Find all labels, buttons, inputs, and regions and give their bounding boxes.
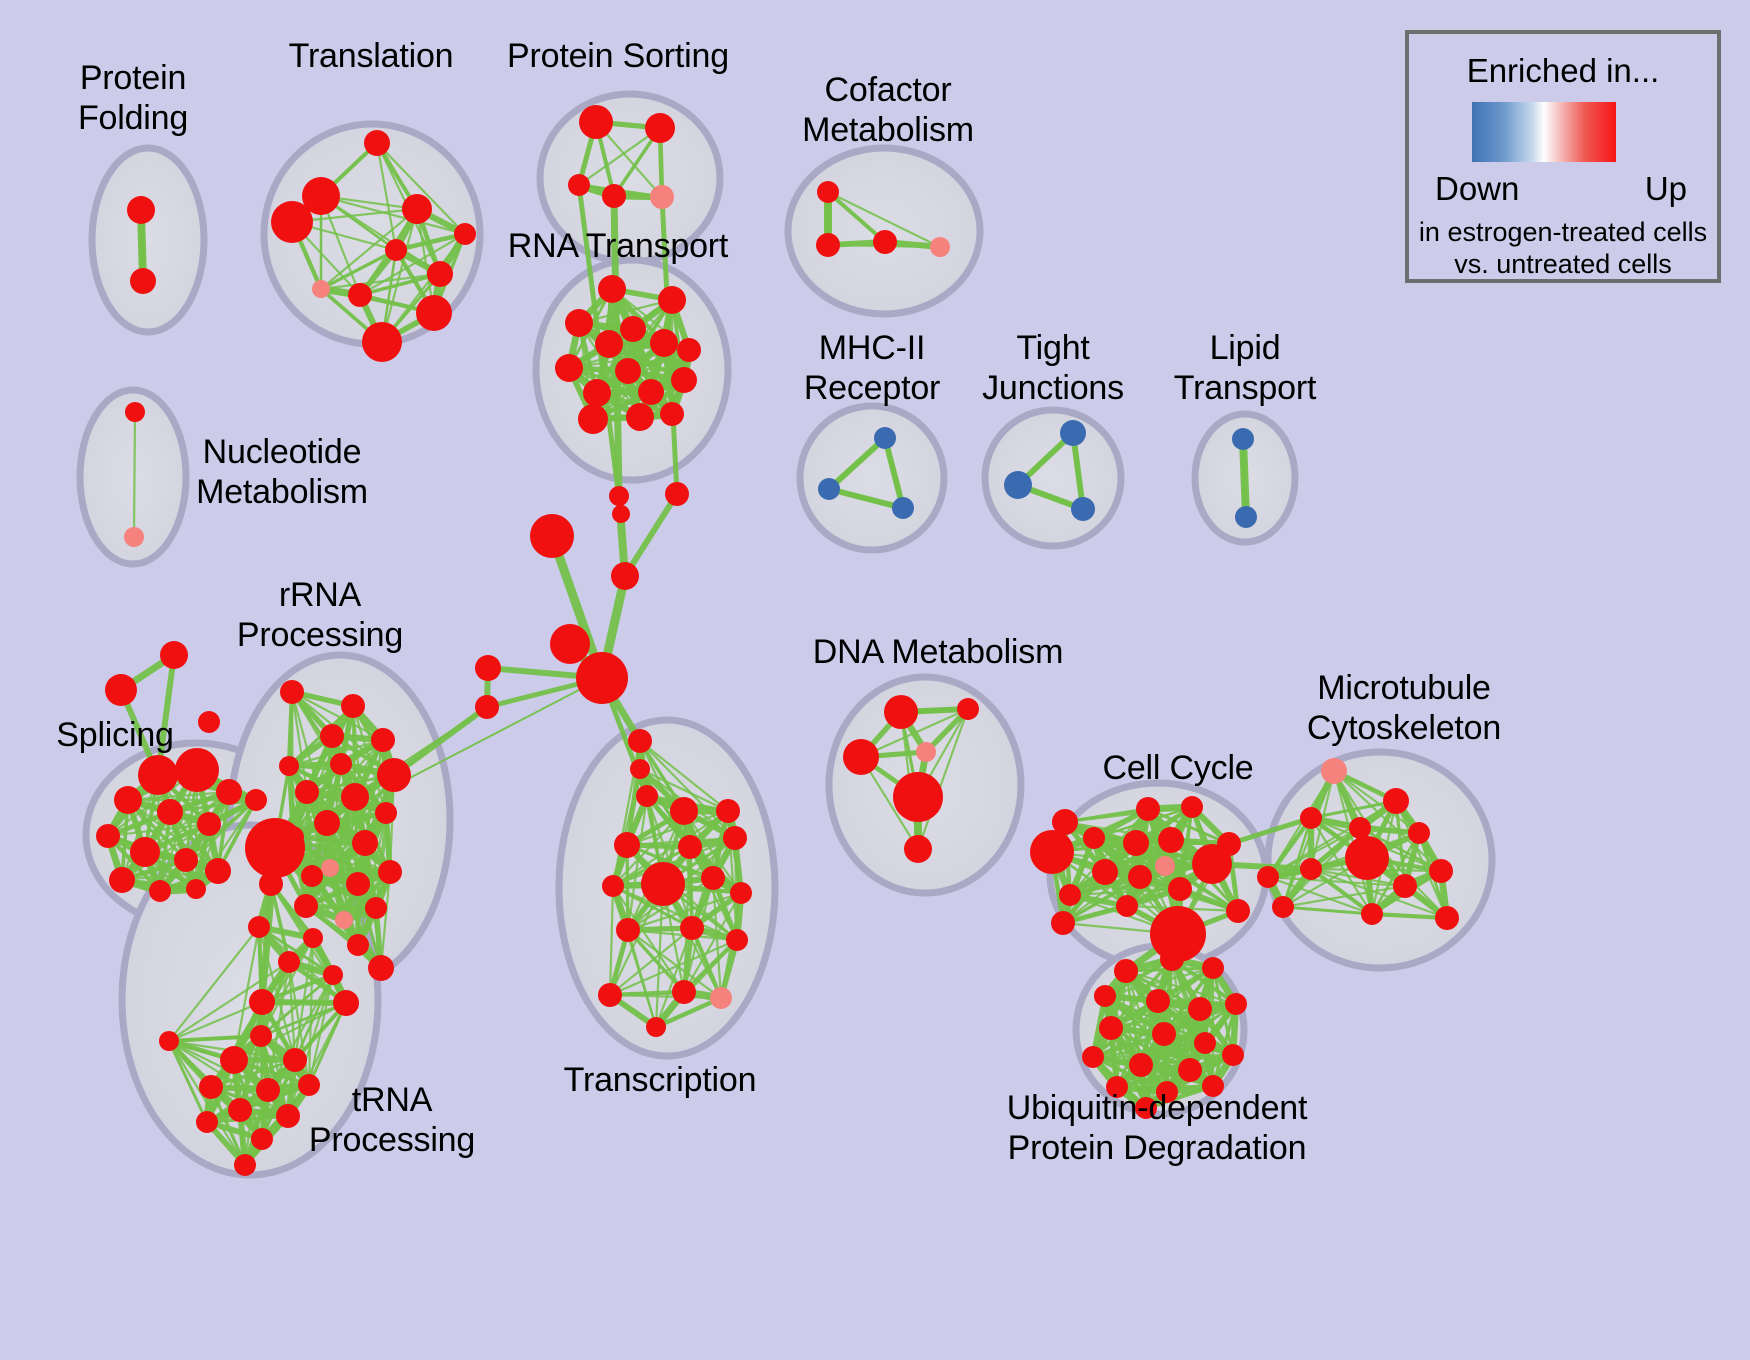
node[interactable] (157, 799, 183, 825)
node[interactable] (1128, 865, 1152, 889)
node[interactable] (109, 867, 135, 893)
cluster-label-splicing: Splicing (56, 715, 173, 755)
node[interactable] (199, 1075, 223, 1099)
node[interactable] (368, 955, 394, 981)
node[interactable] (160, 641, 188, 669)
node[interactable] (1435, 906, 1459, 930)
node[interactable] (256, 1078, 280, 1102)
node[interactable] (1099, 1016, 1123, 1040)
node[interactable] (278, 951, 300, 973)
node[interactable] (598, 275, 626, 303)
cluster-label-cell-cycle: Cell Cycle (1102, 748, 1253, 788)
node[interactable] (1272, 896, 1294, 918)
node[interactable] (220, 1046, 248, 1074)
node[interactable] (1004, 471, 1032, 499)
node[interactable] (378, 860, 402, 884)
legend-title: Enriched in... (1409, 52, 1717, 90)
node[interactable] (916, 742, 936, 762)
node[interactable] (646, 1017, 666, 1037)
node[interactable] (1181, 796, 1203, 818)
node[interactable] (1194, 1032, 1216, 1054)
node[interactable] (196, 1111, 218, 1133)
node[interactable] (105, 674, 137, 706)
node[interactable] (583, 379, 611, 407)
node[interactable] (1300, 807, 1322, 829)
node[interactable] (1158, 827, 1184, 853)
node[interactable] (130, 837, 160, 867)
legend-up-label: Up (1645, 170, 1687, 208)
node[interactable] (614, 832, 640, 858)
node[interactable] (1092, 859, 1118, 885)
edge (1243, 439, 1246, 517)
node[interactable] (228, 1098, 252, 1122)
node[interactable] (672, 980, 696, 1004)
node[interactable] (665, 482, 689, 506)
node[interactable] (234, 1154, 256, 1176)
node[interactable] (1114, 959, 1138, 983)
node[interactable] (186, 879, 206, 899)
node[interactable] (1300, 858, 1322, 880)
node[interactable] (670, 797, 698, 825)
node[interactable] (1429, 859, 1453, 883)
node[interactable] (530, 514, 574, 558)
edge (134, 412, 135, 537)
node[interactable] (295, 780, 319, 804)
node[interactable] (1129, 1053, 1153, 1077)
node[interactable] (321, 859, 339, 877)
node[interactable] (216, 779, 242, 805)
node[interactable] (1116, 895, 1138, 917)
cluster-label-dna-metabolism: DNA Metabolism (813, 632, 1063, 672)
node[interactable] (365, 897, 387, 919)
cluster-label-mhc-ii-receptor: MHC-II Receptor (804, 328, 940, 408)
node[interactable] (1155, 856, 1175, 876)
node[interactable] (818, 478, 840, 500)
node[interactable] (701, 866, 725, 890)
node[interactable] (1349, 817, 1371, 839)
node[interactable] (638, 379, 664, 405)
node[interactable] (341, 783, 369, 811)
cluster-hull-protein-folding (92, 148, 204, 332)
node[interactable] (352, 830, 378, 856)
node[interactable] (1188, 997, 1212, 1021)
node[interactable] (611, 562, 639, 590)
node[interactable] (645, 113, 675, 143)
node[interactable] (249, 989, 275, 1015)
cluster-label-transcription: Transcription (564, 1060, 757, 1100)
node[interactable] (710, 987, 732, 1009)
node[interactable] (301, 865, 323, 887)
node[interactable] (602, 184, 626, 208)
node[interactable] (248, 916, 270, 938)
node[interactable] (259, 872, 283, 896)
node[interactable] (595, 330, 623, 358)
node[interactable] (578, 404, 608, 434)
cluster-label-microtubule-cytoskeleton: Microtubule Cytoskeleton (1307, 668, 1501, 748)
node[interactable] (130, 268, 156, 294)
cluster-hull-mhc-ii-receptor (800, 406, 944, 550)
node[interactable] (904, 835, 932, 863)
node[interactable] (636, 785, 658, 807)
node[interactable] (726, 929, 748, 951)
node[interactable] (568, 174, 590, 196)
node[interactable] (555, 354, 583, 382)
node[interactable] (346, 872, 370, 896)
node[interactable] (294, 894, 318, 918)
node[interactable] (1345, 836, 1389, 880)
node[interactable] (1321, 758, 1347, 784)
node[interactable] (1071, 497, 1095, 521)
node[interactable] (1192, 844, 1232, 884)
node[interactable] (427, 261, 453, 287)
node[interactable] (576, 652, 628, 704)
node[interactable] (312, 280, 330, 298)
node[interactable] (723, 826, 747, 850)
node[interactable] (1232, 428, 1254, 450)
edge (625, 494, 677, 576)
node[interactable] (283, 1048, 307, 1072)
node[interactable] (626, 403, 654, 431)
node[interactable] (716, 799, 740, 823)
node[interactable] (598, 983, 622, 1007)
node[interactable] (1222, 1044, 1244, 1066)
node[interactable] (1383, 788, 1409, 814)
node[interactable] (251, 1128, 273, 1150)
node[interactable] (341, 694, 365, 718)
node[interactable] (658, 286, 686, 314)
node[interactable] (678, 835, 702, 859)
node[interactable] (385, 239, 407, 261)
node[interactable] (1257, 866, 1279, 888)
node[interactable] (620, 316, 646, 342)
node[interactable] (677, 338, 701, 362)
node[interactable] (1136, 797, 1160, 821)
node[interactable] (124, 527, 144, 547)
node[interactable] (197, 812, 221, 836)
cluster-hull-tight-junctions (985, 410, 1121, 546)
node[interactable] (454, 223, 476, 245)
node[interactable] (1178, 1058, 1202, 1082)
cluster-label-protein-folding: Protein Folding (78, 58, 188, 138)
cluster-label-nucleotide-metabolism: Nucleotide Metabolism (196, 432, 368, 512)
node[interactable] (1094, 985, 1116, 1007)
node[interactable] (371, 728, 395, 752)
node[interactable] (957, 698, 979, 720)
legend-panel: Enriched in... Down Up in estrogen-treat… (1405, 30, 1721, 283)
node[interactable] (628, 729, 652, 753)
node[interactable] (1168, 877, 1192, 901)
node[interactable] (314, 810, 340, 836)
node[interactable] (817, 181, 839, 203)
node[interactable] (873, 230, 897, 254)
node[interactable] (680, 916, 704, 940)
node[interactable] (375, 802, 397, 824)
legend-down-label: Down (1435, 170, 1519, 208)
node[interactable] (1225, 993, 1247, 1015)
node[interactable] (276, 1104, 300, 1128)
node[interactable] (874, 427, 896, 449)
cluster-label-tight-junctions: Tight Junctions (982, 328, 1124, 408)
node[interactable] (641, 862, 685, 906)
cluster-label-rrna-processing: rRNA Processing (237, 575, 403, 655)
node[interactable] (377, 758, 411, 792)
node[interactable] (320, 724, 344, 748)
node[interactable] (612, 505, 630, 523)
node[interactable] (205, 858, 231, 884)
node[interactable] (335, 911, 353, 929)
node[interactable] (114, 786, 142, 814)
node[interactable] (816, 233, 840, 257)
node[interactable] (174, 848, 198, 872)
node[interactable] (1060, 420, 1086, 446)
legend-colorbar (1472, 102, 1616, 162)
node[interactable] (892, 497, 914, 519)
cluster-label-ubiquitin-degradation: Ubiquitin-dependent Protein Degradation (1007, 1088, 1308, 1168)
cluster-label-lipid-transport: Lipid Transport (1174, 328, 1316, 408)
node[interactable] (650, 185, 674, 209)
cluster-label-translation: Translation (289, 36, 454, 76)
node[interactable] (159, 1031, 179, 1051)
node[interactable] (1146, 989, 1170, 1013)
node[interactable] (1393, 874, 1417, 898)
node[interactable] (271, 201, 313, 243)
node[interactable] (1059, 884, 1081, 906)
node[interactable] (149, 880, 171, 902)
node[interactable] (364, 130, 390, 156)
node[interactable] (565, 309, 593, 337)
node[interactable] (348, 283, 372, 307)
node[interactable] (250, 1025, 272, 1047)
node[interactable] (198, 711, 220, 733)
node[interactable] (609, 486, 629, 506)
cluster-label-cofactor-metabolism: Cofactor Metabolism (802, 70, 974, 150)
node[interactable] (362, 322, 402, 362)
node[interactable] (1123, 830, 1149, 856)
node[interactable] (843, 739, 879, 775)
node[interactable] (96, 824, 120, 848)
node[interactable] (660, 402, 684, 426)
node[interactable] (650, 329, 678, 357)
node[interactable] (602, 875, 624, 897)
node[interactable] (1361, 903, 1383, 925)
node[interactable] (1408, 822, 1430, 844)
node[interactable] (1030, 830, 1074, 874)
node[interactable] (893, 772, 943, 822)
cluster-label-protein-sorting: Protein Sorting (507, 36, 729, 76)
node[interactable] (1226, 899, 1250, 923)
node[interactable] (475, 695, 499, 719)
node[interactable] (884, 695, 918, 729)
legend-sublabel: in estrogen-treated cells vs. untreated … (1409, 216, 1717, 280)
cluster-label-rna-transport: RNA Transport (508, 226, 728, 266)
node[interactable] (333, 990, 359, 1016)
node[interactable] (323, 965, 343, 985)
node[interactable] (303, 928, 323, 948)
node[interactable] (579, 105, 613, 139)
node[interactable] (330, 753, 352, 775)
node[interactable] (402, 194, 432, 224)
node[interactable] (175, 748, 219, 792)
node[interactable] (1202, 957, 1224, 979)
node[interactable] (550, 624, 590, 664)
node[interactable] (279, 756, 299, 776)
cluster-label-trna-processing: tRNA Processing (309, 1080, 475, 1160)
node[interactable] (125, 402, 145, 422)
node[interactable] (1051, 911, 1075, 935)
node[interactable] (671, 367, 697, 393)
node[interactable] (245, 789, 267, 811)
node[interactable] (1082, 1046, 1104, 1068)
node[interactable] (127, 196, 155, 224)
node[interactable] (416, 295, 452, 331)
node[interactable] (930, 237, 950, 257)
node[interactable] (280, 680, 304, 704)
node[interactable] (1160, 947, 1184, 971)
node[interactable] (282, 826, 304, 848)
node[interactable] (1152, 1022, 1176, 1046)
node[interactable] (475, 655, 501, 681)
node[interactable] (616, 918, 640, 942)
node[interactable] (615, 358, 641, 384)
node[interactable] (730, 882, 752, 904)
node[interactable] (347, 934, 369, 956)
node[interactable] (630, 759, 650, 779)
node[interactable] (1083, 827, 1105, 849)
node[interactable] (1235, 506, 1257, 528)
node[interactable] (138, 755, 178, 795)
